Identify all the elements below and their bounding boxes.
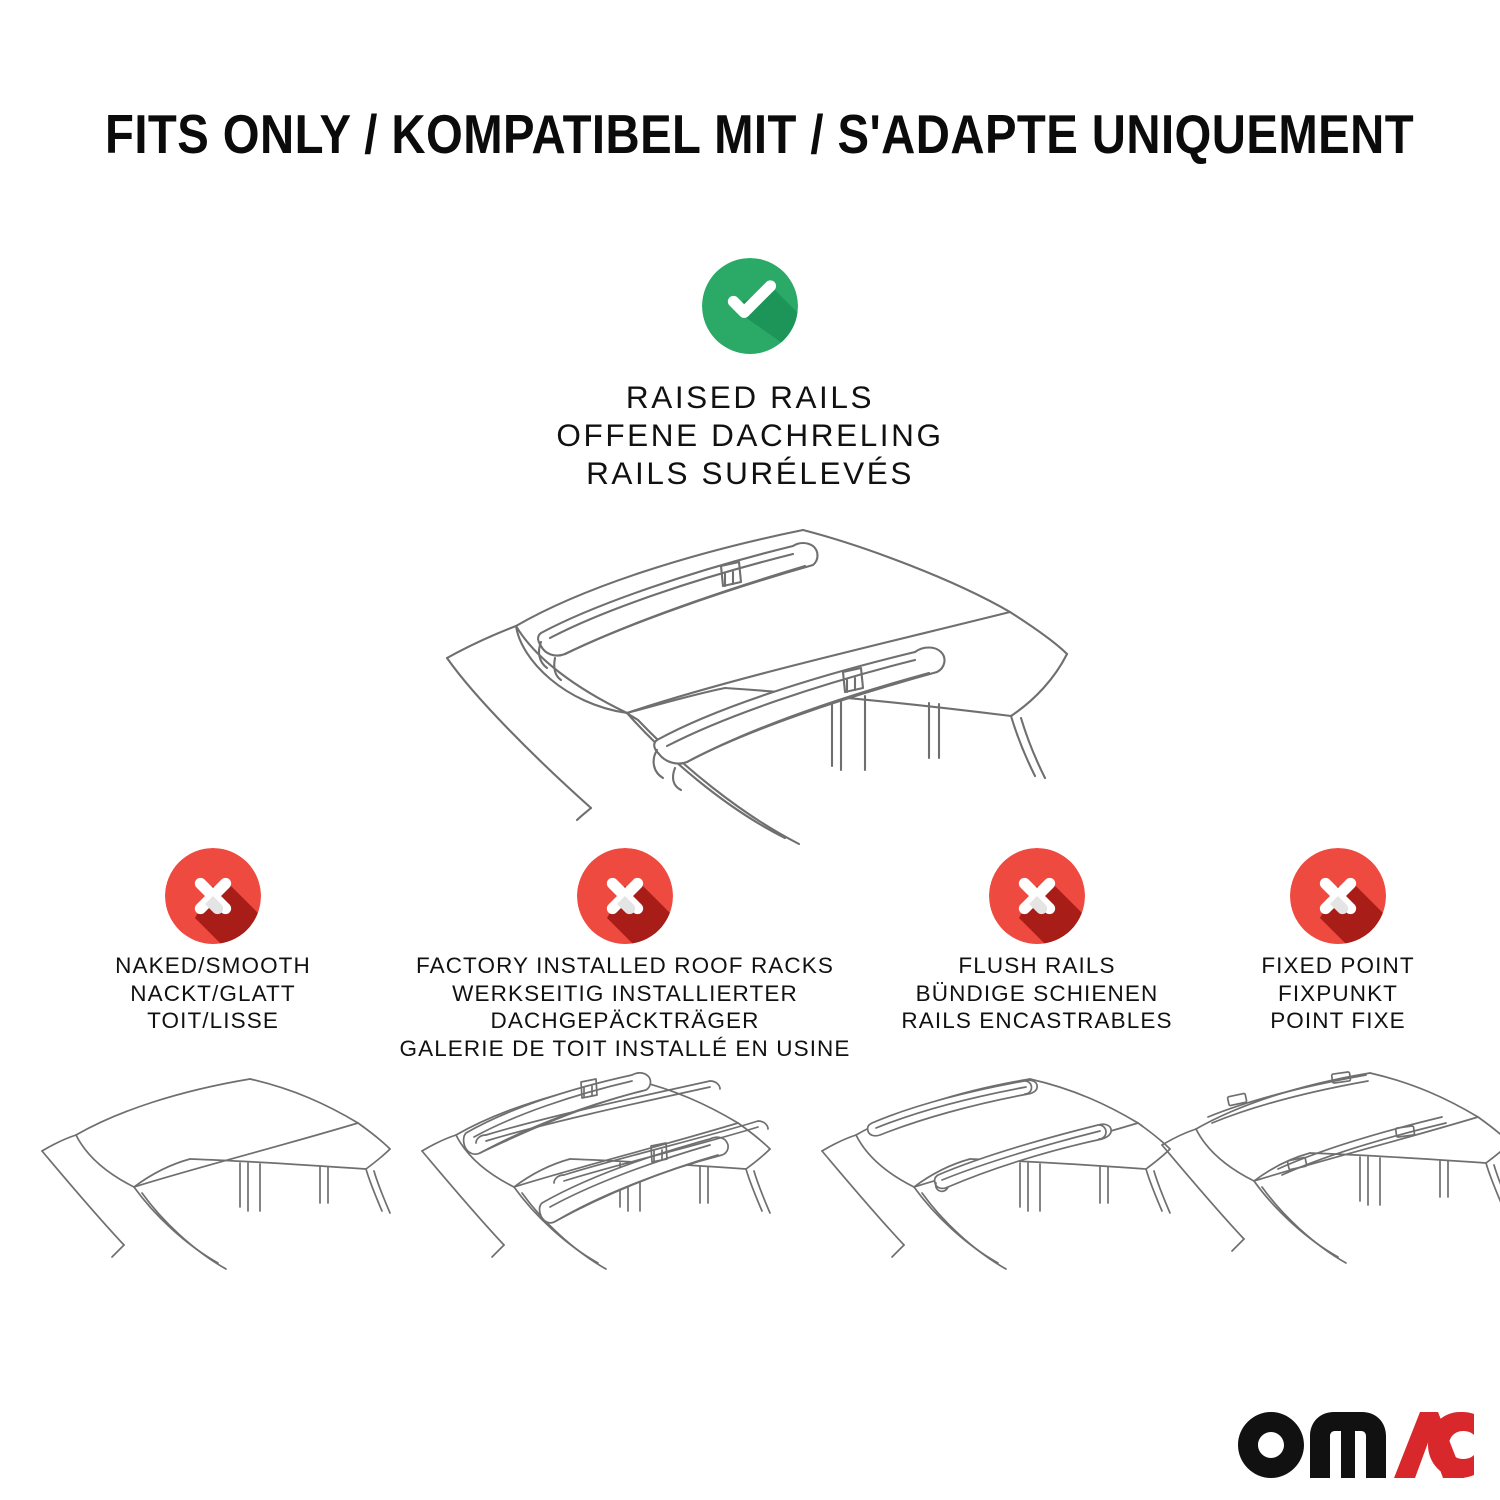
incompatible-item-factory-rack: FACTORY INSTALLED ROOF RACKS WERKSEITIG … <box>395 848 855 1062</box>
cross-circle-icon <box>577 848 673 944</box>
incompatible-item-flush-rails: FLUSH RAILS BÜNDIGE SCHIENEN RAILS ENCAS… <box>866 848 1208 1035</box>
compatible-label-de: OFFENE DACHRELING <box>0 416 1500 454</box>
compatible-section: RAISED RAILS OFFENE DACHRELING RAILS SUR… <box>0 258 1500 492</box>
car-roof-naked-smooth-illustration <box>38 1055 398 1280</box>
cross-circle-icon <box>165 848 261 944</box>
label-line-1: FIXED POINT <box>1208 952 1468 980</box>
incompatible-labels: FACTORY INSTALLED ROOF RACKS WERKSEITIG … <box>395 952 855 1062</box>
label-line-3: TOIT/LISSE <box>53 1007 373 1035</box>
compatible-label-fr: RAILS SURÉLEVÉS <box>0 454 1500 492</box>
page-title: FITS ONLY / KOMPATIBEL MIT / S'ADAPTE UN… <box>105 103 1395 165</box>
incompatible-labels: NAKED/SMOOTH NACKT/GLATT TOIT/LISSE <box>53 952 373 1035</box>
logo-letter-o <box>1238 1412 1304 1478</box>
label-line-1: NAKED/SMOOTH <box>53 952 373 980</box>
omac-logo <box>1238 1412 1474 1478</box>
incompatible-item-fixed-point: FIXED POINT FIXPUNKT POINT FIXE <box>1208 848 1468 1035</box>
label-line-2: FIXPUNKT <box>1208 980 1468 1008</box>
label-line-2: NACKT/GLATT <box>53 980 373 1008</box>
car-roof-fixed-point-illustration <box>1160 1055 1500 1280</box>
incompatible-section: NAKED/SMOOTH NACKT/GLATT TOIT/LISSE <box>0 848 1500 1078</box>
check-circle-icon <box>702 258 798 354</box>
label-line-2: BÜNDIGE SCHIENEN <box>866 980 1208 1008</box>
compatible-label-en: RAISED RAILS <box>0 378 1500 416</box>
incompatible-labels: FLUSH RAILS BÜNDIGE SCHIENEN RAILS ENCAS… <box>866 952 1208 1035</box>
incompatible-item-naked-smooth: NAKED/SMOOTH NACKT/GLATT TOIT/LISSE <box>53 848 373 1035</box>
cross-circle-icon <box>989 848 1085 944</box>
label-line-3: RAILS ENCASTRABLES <box>866 1007 1208 1035</box>
incompatible-labels: FIXED POINT FIXPUNKT POINT FIXE <box>1208 952 1468 1035</box>
label-line-2: WERKSEITIG INSTALLIERTER <box>395 980 855 1008</box>
label-line-3: DACHGEPÄCKTRÄGER <box>395 1007 855 1035</box>
logo-letter-m <box>1310 1412 1386 1478</box>
label-line-3: POINT FIXE <box>1208 1007 1468 1035</box>
compatible-labels: RAISED RAILS OFFENE DACHRELING RAILS SUR… <box>0 378 1500 492</box>
label-line-1: FACTORY INSTALLED ROOF RACKS <box>395 952 855 980</box>
car-roof-factory-rack-illustration <box>418 1055 778 1280</box>
car-roof-flush-rails-illustration <box>818 1055 1178 1280</box>
car-roof-raised-rails-illustration <box>395 508 1105 848</box>
cross-circle-icon <box>1290 848 1386 944</box>
label-line-1: FLUSH RAILS <box>866 952 1208 980</box>
